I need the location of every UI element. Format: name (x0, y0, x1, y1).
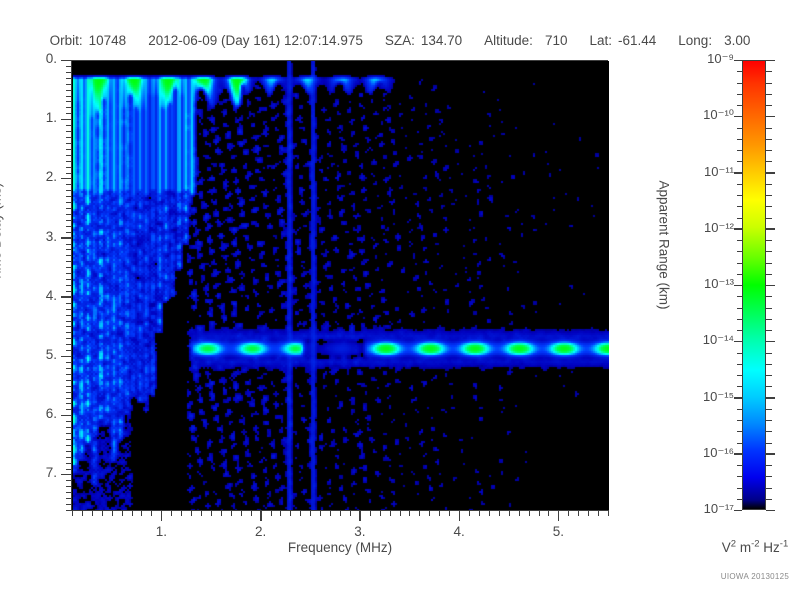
colorbar-tick-minor-right (766, 330, 772, 331)
colorbar-tick-major (734, 285, 742, 287)
colorbar-tick-major (734, 397, 742, 399)
colorbar-tick-minor-right (766, 375, 772, 376)
colorbar-tick-minor (737, 386, 742, 387)
colorbar-tick-minor-right (766, 274, 772, 275)
colorbar-tick-minor (737, 409, 742, 410)
colorbar-tick-minor (737, 218, 742, 219)
colorbar-tick-major (734, 116, 742, 118)
colorbar-tick-major-right (766, 60, 775, 62)
colorbar-tick-minor (737, 330, 742, 331)
colorbar-tick-minor (737, 296, 742, 297)
colorbar-tick-minor-right (766, 308, 772, 309)
colorbar-tick-minor (737, 375, 742, 376)
colorbar-tick-minor-right (766, 420, 772, 421)
colorbar-tick-minor-right (766, 83, 772, 84)
colorbar-tick-minor-right (766, 364, 772, 365)
colorbar-tick-minor (737, 353, 742, 354)
colorbar-tick-minor (737, 94, 742, 95)
colorbar-tick-major-right (766, 228, 775, 230)
colorbar-tick-minor (737, 465, 742, 466)
colorbar-tick-minor (737, 240, 742, 241)
colorbar-tick-label: 10⁻¹⁴ (664, 332, 734, 348)
colorbar-tick-label: 10⁻¹⁶ (664, 445, 734, 461)
colorbar-tick-label: 10⁻¹¹ (664, 164, 734, 180)
colorbar-tick-major (734, 341, 742, 343)
colorbar-tick-major-right (766, 341, 775, 343)
colorbar-tick-label: 10⁻¹⁵ (664, 389, 734, 405)
colorbar-tick-minor (737, 83, 742, 84)
colorbar-tick-minor (737, 364, 742, 365)
colorbar-tick-minor-right (766, 184, 772, 185)
colorbar-tick-major (734, 172, 742, 174)
credit-label: UIOWA 20130125 (700, 572, 800, 581)
colorbar-tick-major-right (766, 116, 775, 118)
colorbar-tick-minor (737, 431, 742, 432)
colorbar-tick-minor (737, 150, 742, 151)
colorbar-tick-minor-right (766, 431, 772, 432)
colorbar-tick-major (734, 453, 742, 455)
colorbar-tick-minor-right (766, 409, 772, 410)
colorbar-tick-label: 10⁻¹⁷ (664, 501, 734, 517)
colorbar-tick-minor-right (766, 499, 772, 500)
colorbar-tick-minor-right (766, 443, 772, 444)
colorbar-units-label: V2 m-2 Hz-1 (700, 538, 800, 555)
colorbar-tick-major (734, 60, 742, 62)
colorbar-tick-major-right (766, 285, 775, 287)
colorbar-tick-minor (737, 263, 742, 264)
colorbar-tick-major-right (766, 172, 775, 174)
colorbar-tick-minor (737, 206, 742, 207)
colorbar-tick-minor-right (766, 150, 772, 151)
colorbar-tick-minor-right (766, 139, 772, 140)
colorbar-tick-label: 10⁻⁹ (664, 51, 734, 67)
units-hz: Hz-1 (763, 540, 788, 555)
colorbar-tick-major (734, 510, 742, 512)
colorbar-tick-minor (737, 128, 742, 129)
colorbar-tick-minor-right (766, 263, 772, 264)
colorbar-tick-minor-right (766, 476, 772, 477)
colorbar-tick-minor-right (766, 240, 772, 241)
colorbar-tick-label: 10⁻¹⁰ (664, 107, 734, 123)
colorbar-tick-minor-right (766, 296, 772, 297)
colorbar-tick-minor (737, 308, 742, 309)
colorbar-tick-minor-right (766, 319, 772, 320)
colorbar-tick-minor-right (766, 218, 772, 219)
colorbar-tick-minor-right (766, 161, 772, 162)
colorbar-tick-minor-right (766, 386, 772, 387)
colorbar-tick-minor-right (766, 94, 772, 95)
colorbar-tick-major-right (766, 397, 775, 399)
units-m: m-2 (740, 540, 760, 555)
colorbar-tick-major (734, 228, 742, 230)
colorbar-tick-minor-right (766, 71, 772, 72)
colorbar-tick-minor-right (766, 251, 772, 252)
colorbar-tick-major-right (766, 453, 775, 455)
colorbar-tick-minor (737, 139, 742, 140)
colorbar-tick-minor (737, 105, 742, 106)
colorbar-tick-minor-right (766, 195, 772, 196)
colorbar-tick-label: 10⁻¹² (664, 220, 734, 236)
units-v: V2 (722, 540, 736, 555)
colorbar-ticks: 10⁻⁹10⁻¹⁰10⁻¹¹10⁻¹²10⁻¹³10⁻¹⁴10⁻¹⁵10⁻¹⁶1… (0, 0, 800, 600)
colorbar-tick-minor-right (766, 353, 772, 354)
colorbar-tick-minor (737, 488, 742, 489)
colorbar-tick-minor (737, 161, 742, 162)
colorbar-tick-minor-right (766, 206, 772, 207)
colorbar-tick-minor-right (766, 128, 772, 129)
colorbar-tick-minor (737, 443, 742, 444)
colorbar-tick-minor-right (766, 105, 772, 106)
colorbar-tick-minor (737, 319, 742, 320)
colorbar-tick-minor-right (766, 465, 772, 466)
colorbar-tick-minor (737, 71, 742, 72)
colorbar-tick-minor (737, 420, 742, 421)
colorbar-tick-minor-right (766, 488, 772, 489)
colorbar-tick-minor (737, 476, 742, 477)
colorbar-tick-minor (737, 251, 742, 252)
colorbar-tick-minor (737, 274, 742, 275)
colorbar-tick-minor (737, 195, 742, 196)
colorbar-tick-label: 10⁻¹³ (664, 276, 734, 292)
colorbar-tick-minor (737, 184, 742, 185)
colorbar-tick-minor (737, 499, 742, 500)
colorbar-tick-major-right (766, 510, 775, 512)
